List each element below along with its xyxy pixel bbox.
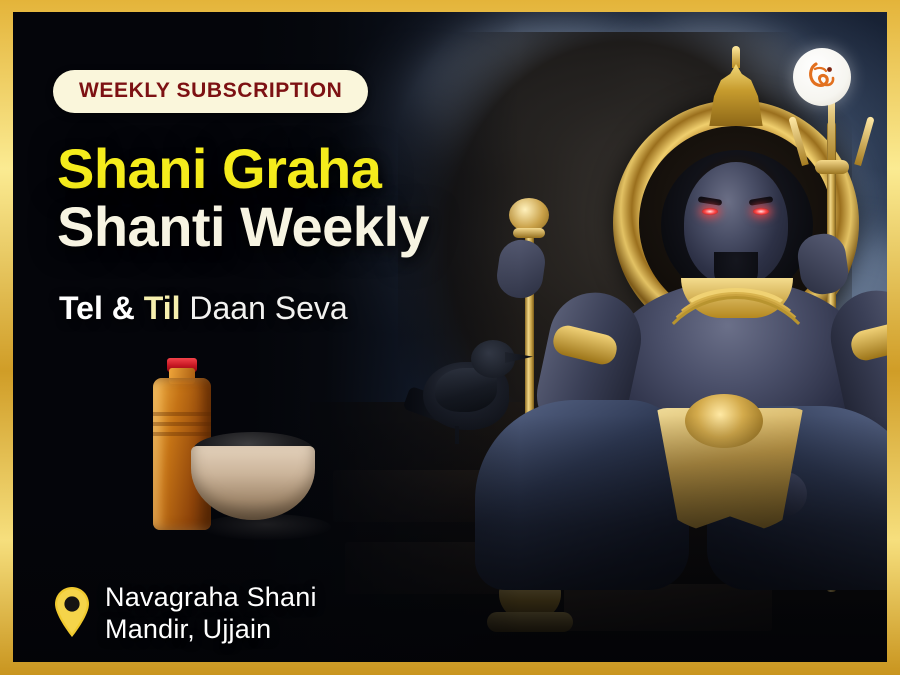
title-line-2: Shanti Weekly bbox=[57, 198, 517, 256]
page-title: Shani Graha Shanti Weekly bbox=[57, 140, 517, 256]
poster-canvas: WEEKLY SUBSCRIPTION Shani Graha Shanti W… bbox=[0, 0, 900, 675]
product-imagery bbox=[131, 368, 311, 548]
title-line-1: Shani Graha bbox=[57, 140, 517, 198]
location-text: Navagraha Shani Mandir, Ujjain bbox=[105, 582, 317, 646]
subtitle-bold: Tel & bbox=[59, 290, 135, 326]
subtitle: Tel & Til Daan Seva bbox=[59, 290, 348, 327]
subscription-badge: WEEKLY SUBSCRIPTION bbox=[53, 70, 368, 113]
location-block: Navagraha Shani Mandir, Ujjain bbox=[53, 582, 317, 646]
om-logo-icon bbox=[802, 57, 842, 97]
subtitle-rest: Daan Seva bbox=[189, 290, 347, 326]
location-pin-icon bbox=[53, 586, 91, 638]
poster-inner: WEEKLY SUBSCRIPTION Shani Graha Shanti W… bbox=[13, 12, 887, 662]
location-line-2: Mandir, Ujjain bbox=[105, 614, 317, 646]
subscription-badge-label: WEEKLY SUBSCRIPTION bbox=[79, 79, 342, 102]
brand-logo[interactable] bbox=[793, 48, 851, 106]
subtitle-highlight: Til bbox=[144, 290, 181, 326]
location-line-1: Navagraha Shani bbox=[105, 582, 317, 614]
